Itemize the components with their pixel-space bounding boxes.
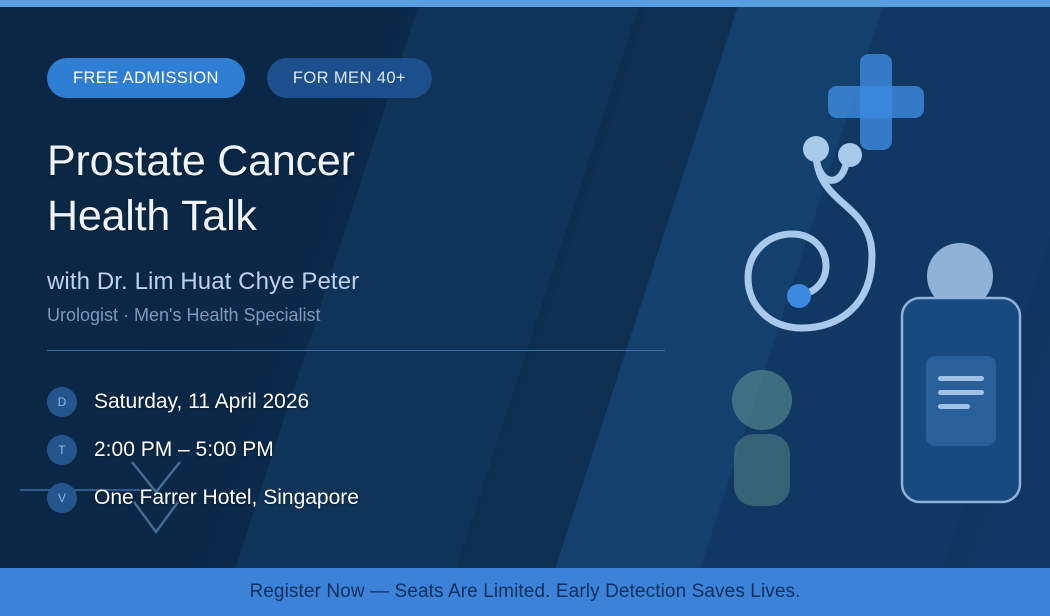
speaker-name: with Dr. Lim Huat Chye Peter bbox=[47, 268, 359, 296]
stethoscope-earpiece-icon bbox=[803, 136, 829, 162]
badge-for-men-40-plus[interactable]: FOR MEN 40+ bbox=[267, 58, 432, 98]
badge-label: FOR MEN 40+ bbox=[293, 69, 406, 88]
small-person-figure bbox=[732, 370, 792, 506]
event-title: Prostate Cancer Health Talk bbox=[47, 134, 607, 244]
badge-group: FREE ADMISSION FOR MEN 40+ bbox=[47, 58, 432, 98]
calendar-icon: D bbox=[47, 387, 77, 417]
speaker-role: Urologist · Men's Health Specialist bbox=[47, 305, 321, 326]
location-pin-icon: V bbox=[47, 483, 77, 513]
document-line bbox=[938, 390, 984, 395]
footer-cta-bar[interactable]: Register Now — Seats Are Limited. Early … bbox=[0, 568, 1050, 616]
content-divider bbox=[47, 350, 665, 351]
footer-cta-text: Register Now — Seats Are Limited. Early … bbox=[249, 581, 800, 603]
detail-row-time: T 2:00 PM – 5:00 PM bbox=[47, 426, 359, 474]
event-time: 2:00 PM – 5:00 PM bbox=[94, 438, 274, 462]
detail-row-date: D Saturday, 11 April 2026 bbox=[47, 378, 359, 426]
clock-icon-glyph: T bbox=[58, 443, 66, 457]
event-banner: FREE ADMISSION FOR MEN 40+ Prostate Canc… bbox=[0, 0, 1050, 616]
detail-row-venue: V One Farrer Hotel, Singapore bbox=[47, 474, 359, 522]
event-title-line-2: Health Talk bbox=[47, 189, 607, 244]
clock-icon: T bbox=[47, 435, 77, 465]
badge-free-admission[interactable]: FREE ADMISSION bbox=[47, 58, 245, 98]
event-title-line-1: Prostate Cancer bbox=[47, 137, 355, 185]
top-accent-strip bbox=[0, 0, 1050, 7]
calendar-icon-glyph: D bbox=[58, 395, 67, 409]
stethoscope-icon bbox=[748, 152, 872, 328]
medical-cross-icon bbox=[828, 54, 924, 150]
doctor-figure bbox=[902, 243, 1020, 502]
document-line bbox=[938, 404, 970, 409]
event-date: Saturday, 11 April 2026 bbox=[94, 390, 309, 414]
location-pin-icon-glyph: V bbox=[58, 491, 66, 505]
event-venue: One Farrer Hotel, Singapore bbox=[94, 486, 359, 510]
badge-label: FREE ADMISSION bbox=[73, 69, 219, 88]
stethoscope-chestpiece-icon bbox=[787, 284, 811, 308]
event-details-list: D Saturday, 11 April 2026 T 2:00 PM – 5:… bbox=[47, 378, 359, 522]
document-line bbox=[938, 376, 984, 381]
document-card bbox=[926, 356, 996, 446]
medical-illustration bbox=[720, 6, 1050, 568]
banner-content: FREE ADMISSION FOR MEN 40+ Prostate Canc… bbox=[47, 0, 687, 568]
stethoscope-earpiece-icon bbox=[838, 143, 862, 167]
